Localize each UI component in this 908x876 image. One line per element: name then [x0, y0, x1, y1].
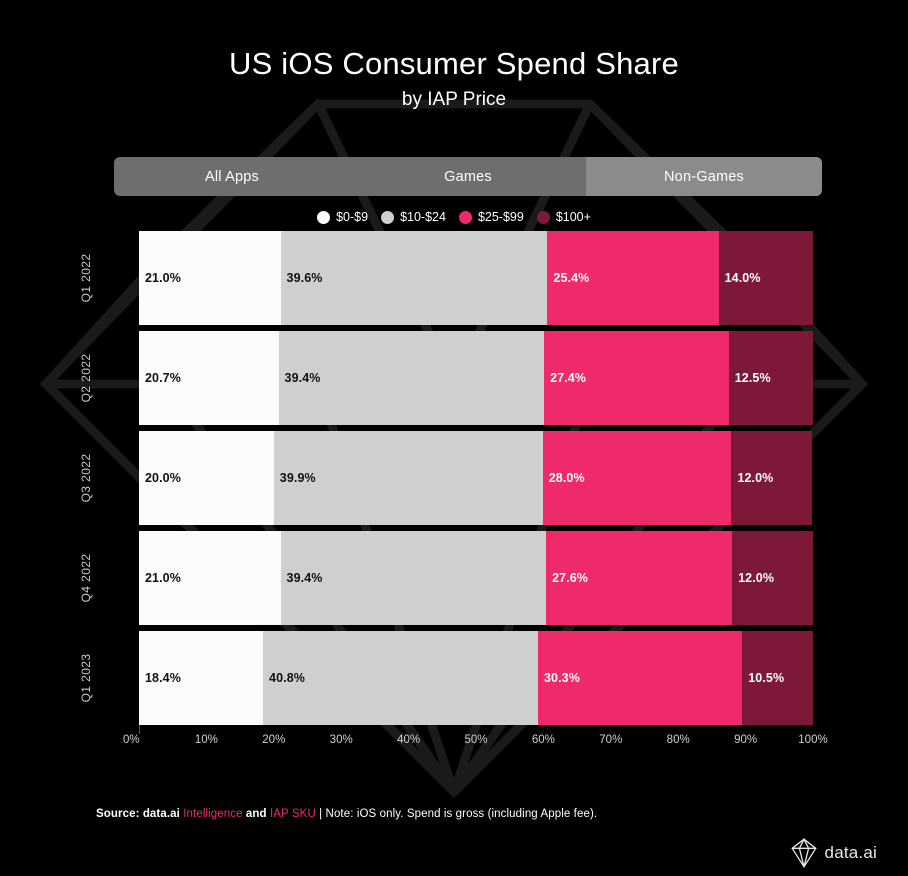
bar-segment[interactable]: 21.0% — [139, 231, 281, 325]
bar-segment[interactable]: 39.4% — [279, 331, 545, 425]
legend-label: $25-$99 — [478, 210, 524, 224]
bar-segment-label: 39.9% — [274, 471, 316, 485]
diamond-icon — [791, 838, 817, 868]
bar-segment-label: 18.4% — [139, 671, 181, 685]
bar-segment-label: 27.6% — [546, 571, 588, 585]
y-axis-category-label: Q1 2022 — [75, 231, 97, 325]
bar-segment-label: 10.5% — [742, 671, 784, 685]
bar-segment-label: 40.8% — [263, 671, 305, 685]
tab-games[interactable]: Games — [350, 157, 586, 196]
source-link-iap-sku[interactable]: IAP SKU — [270, 808, 316, 820]
stacked-bar-plot: Q1 202221.0%39.6%25.4%14.0%Q2 202220.7%3… — [139, 231, 813, 725]
bar-segment-label: 14.0% — [719, 271, 761, 285]
source-link-intelligence[interactable]: Intelligence — [183, 808, 242, 820]
bar-segment-label: 39.4% — [281, 571, 323, 585]
x-axis-tick-label: 20% — [262, 734, 285, 746]
bar-segment-label: 21.0% — [139, 571, 181, 585]
source-note-text: | Note: iOS only. Spend is gross (includ… — [316, 808, 597, 820]
tab-all-apps[interactable]: All Apps — [114, 157, 350, 196]
bar-segment[interactable]: 14.0% — [719, 231, 813, 325]
bar-row[interactable]: 21.0%39.4%27.6%12.0% — [139, 531, 813, 625]
legend-item[interactable]: $0-$9 — [317, 210, 368, 224]
bar-segment[interactable]: 39.4% — [281, 531, 547, 625]
bar-segment-label: 12.0% — [731, 471, 773, 485]
bar-segment[interactable]: 25.4% — [547, 231, 718, 325]
x-axis-tick-label: 50% — [464, 734, 487, 746]
legend-label: $100+ — [556, 210, 591, 224]
bar-row[interactable]: 20.7%39.4%27.4%12.5% — [139, 331, 813, 425]
x-axis-tick-label: 100% — [798, 734, 827, 746]
tab-non-games[interactable]: Non-Games — [586, 157, 822, 196]
bar-segment[interactable]: 28.0% — [543, 431, 732, 525]
bar-segment[interactable]: 27.6% — [546, 531, 732, 625]
x-axis-tick-label: 10% — [195, 734, 218, 746]
bar-segment[interactable]: 40.8% — [263, 631, 538, 725]
bar-segment[interactable]: 20.7% — [139, 331, 279, 425]
x-axis-tick — [139, 725, 140, 734]
bar-segment-label: 39.6% — [281, 271, 323, 285]
legend-swatch-icon — [317, 211, 330, 224]
bar-segment[interactable]: 12.0% — [731, 431, 812, 525]
bar-segment[interactable]: 12.0% — [732, 531, 813, 625]
bar-segment-label: 20.0% — [139, 471, 181, 485]
bar-segment[interactable]: 12.5% — [729, 331, 813, 425]
legend-label: $0-$9 — [336, 210, 368, 224]
bar-segment[interactable]: 21.0% — [139, 531, 281, 625]
legend-swatch-icon — [381, 211, 394, 224]
bar-segment[interactable]: 20.0% — [139, 431, 274, 525]
bar-segment[interactable]: 30.3% — [538, 631, 742, 725]
bar-segment[interactable]: 10.5% — [742, 631, 813, 725]
bar-segment[interactable]: 27.4% — [544, 331, 729, 425]
chart-legend: $0-$9$10-$24$25-$99$100+ — [0, 210, 908, 224]
chart-header: US iOS Consumer Spend Share by IAP Price — [0, 44, 908, 114]
legend-swatch-icon — [537, 211, 550, 224]
segmented-tab-control[interactable]: All Apps Games Non-Games — [114, 157, 822, 196]
y-axis-category-label: Q4 2022 — [75, 531, 97, 625]
page-title: US iOS Consumer Spend Share — [0, 44, 908, 84]
bar-segment[interactable]: 18.4% — [139, 631, 263, 725]
bar-row[interactable]: 18.4%40.8%30.3%10.5% — [139, 631, 813, 725]
brand-logo: data.ai — [791, 838, 877, 868]
source-note: Source: data.ai Intelligence and IAP SKU… — [96, 808, 597, 820]
bar-segment[interactable]: 39.9% — [274, 431, 543, 525]
source-brand: data.ai — [143, 808, 183, 820]
legend-item[interactable]: $100+ — [537, 210, 591, 224]
bar-segment-label: 27.4% — [544, 371, 586, 385]
y-axis-category-label: Q1 2023 — [75, 631, 97, 725]
brand-name: data.ai — [825, 843, 877, 863]
x-axis-tick-label: 60% — [532, 734, 555, 746]
bar-segment-label: 20.7% — [139, 371, 181, 385]
bar-segment-label: 12.5% — [729, 371, 771, 385]
x-axis-tick-label: 40% — [397, 734, 420, 746]
x-axis-tick-label: 90% — [734, 734, 757, 746]
y-axis-category-label: Q3 2022 — [75, 431, 97, 525]
bar-segment-label: 39.4% — [279, 371, 321, 385]
legend-item[interactable]: $25-$99 — [459, 210, 524, 224]
legend-item[interactable]: $10-$24 — [381, 210, 446, 224]
y-axis-category-label: Q2 2022 — [75, 331, 97, 425]
x-axis-tick-label: 70% — [599, 734, 622, 746]
bar-row[interactable]: 20.0%39.9%28.0%12.0% — [139, 431, 813, 525]
source-prefix: Source: — [96, 808, 143, 820]
bar-segment-label: 25.4% — [547, 271, 589, 285]
x-axis-tick-label: 80% — [667, 734, 690, 746]
bar-segment-label: 12.0% — [732, 571, 774, 585]
bar-segment-label: 28.0% — [543, 471, 585, 485]
bar-segment[interactable]: 39.6% — [281, 231, 548, 325]
page-subtitle: by IAP Price — [0, 86, 908, 114]
x-axis-tick-label: 0% — [123, 734, 140, 746]
bar-segment-label: 21.0% — [139, 271, 181, 285]
bar-row[interactable]: 21.0%39.6%25.4%14.0% — [139, 231, 813, 325]
bar-segment-label: 30.3% — [538, 671, 580, 685]
source-conjunction: and — [243, 808, 270, 820]
x-axis-tick-label: 30% — [330, 734, 353, 746]
legend-swatch-icon — [459, 211, 472, 224]
legend-label: $10-$24 — [400, 210, 446, 224]
x-axis: 0%10%20%30%40%50%60%70%80%90%100% — [139, 725, 813, 726]
